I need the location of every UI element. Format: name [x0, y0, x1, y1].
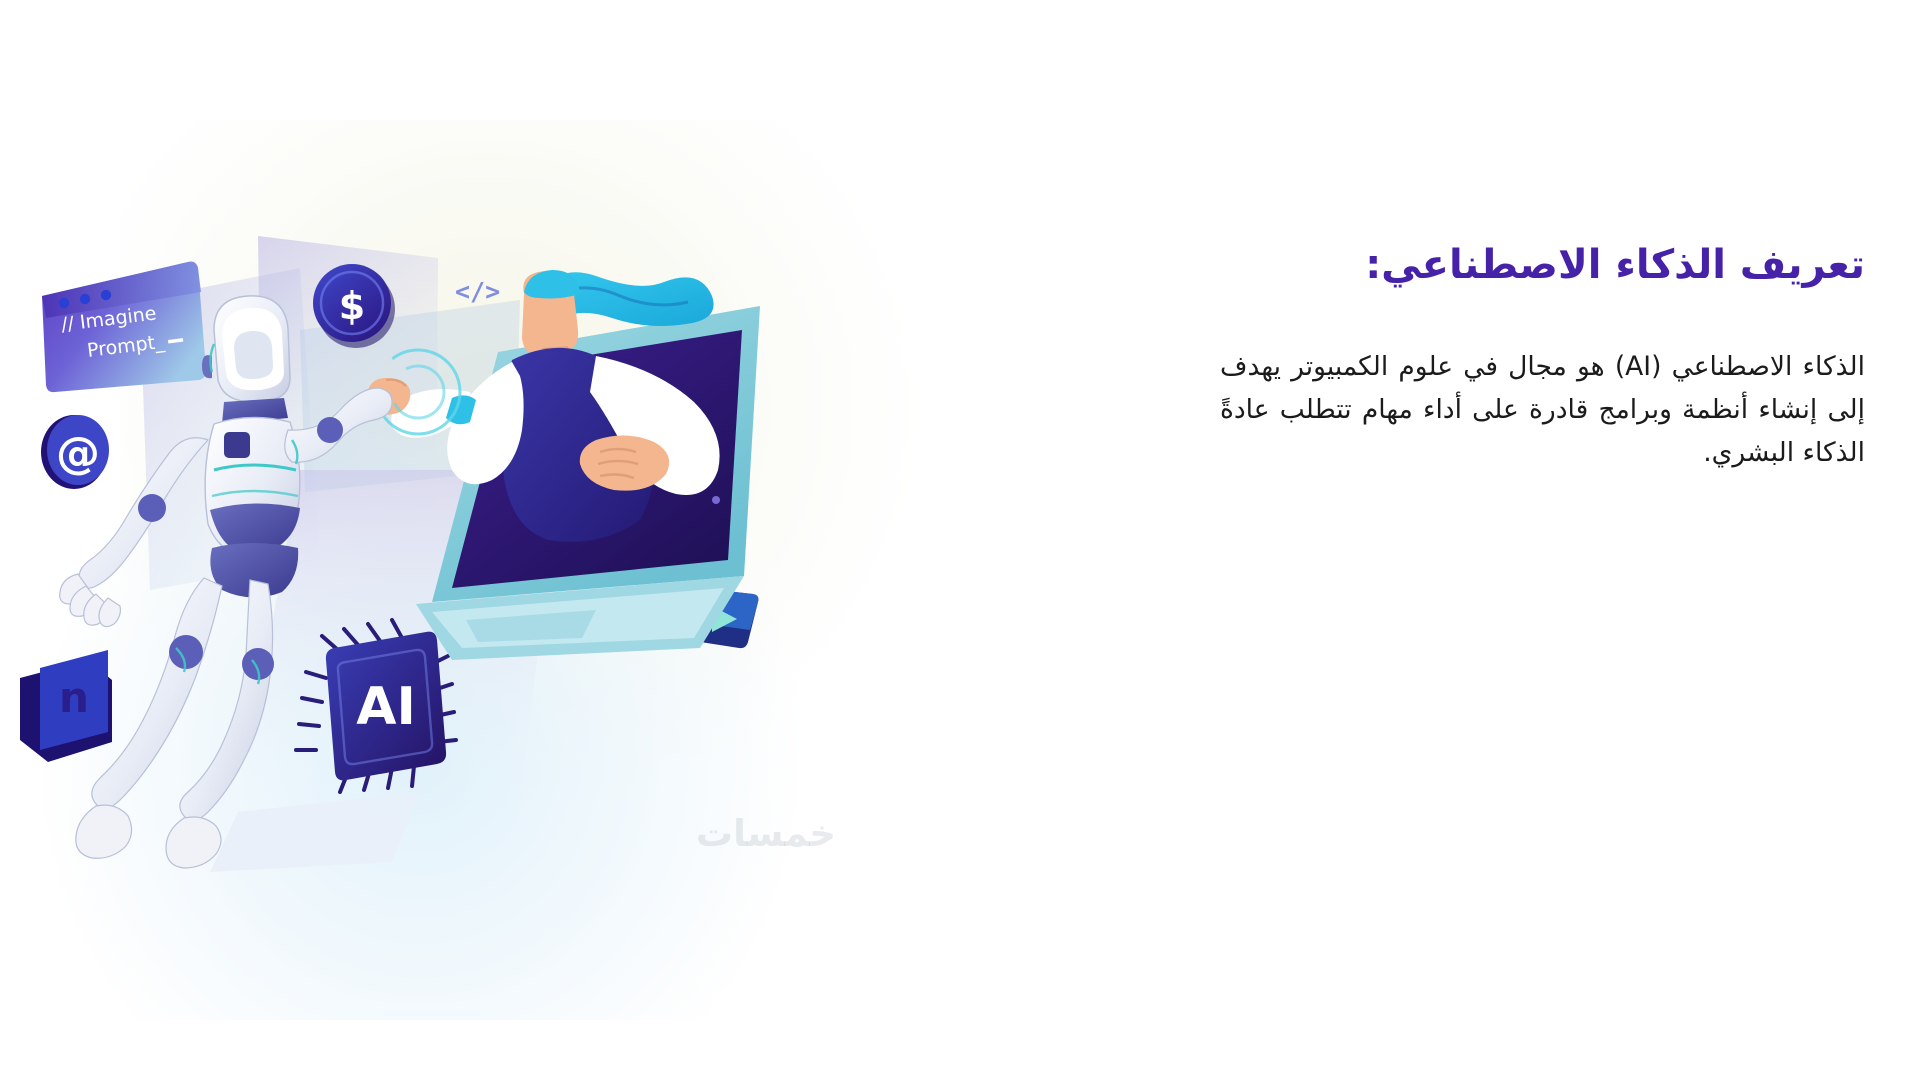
svg-text:n: n [59, 673, 89, 722]
svg-text:</>: </> [455, 277, 500, 306]
ai-illustration: // Imagine Prompt_ $ @ </> [0, 0, 820, 1080]
code-tag-icon: </> [455, 277, 500, 306]
watermark-text: خمسات [616, 812, 916, 855]
page-title: تعريف الذكاء الاصطناعي: [1220, 240, 1865, 290]
text-column: تعريف الذكاء الاصطناعي: الذكاء الاصطناعي… [1220, 240, 1865, 475]
at-badge: @ [41, 415, 109, 489]
folder-badge: n [20, 650, 112, 762]
slide-canvas: // Imagine Prompt_ $ @ </> [0, 0, 1920, 1080]
svg-text:$: $ [339, 284, 365, 328]
svg-text:AI: AI [356, 677, 416, 737]
code-window: // Imagine Prompt_ [42, 262, 206, 393]
definition-paragraph: الذكاء الاصطناعي (AI) هو مجال في علوم ال… [1220, 346, 1865, 475]
svg-text:@: @ [56, 428, 100, 479]
